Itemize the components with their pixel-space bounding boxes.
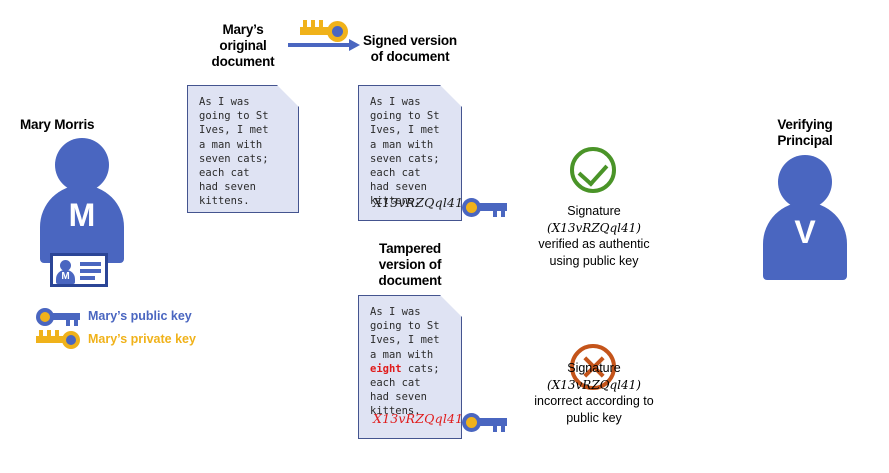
key-tooth [39,330,43,337]
original-document: As I was going to St Ives, I met a man w… [187,85,299,213]
signed-document-heading: Signed version of document [347,33,473,65]
heading-line: Mary’s [187,22,299,38]
key-tooth [303,20,307,28]
original-document-heading: Mary’s original document [187,22,299,70]
success-line-3: verified as authentic [520,236,668,253]
check-circle-icon [570,147,616,193]
key-tooth [501,425,505,432]
key-ring-hole [466,417,477,428]
key-tooth [66,320,70,326]
badge-initial: M [56,270,75,284]
key-ring-hole [66,335,76,345]
avatar-initial: V [763,215,847,249]
signed-document-public-key-icon [462,197,508,217]
public-key-icon [36,307,82,327]
tampered-document-signature: X13vRZQql41 [373,411,463,426]
key-shaft [52,313,80,320]
legend-public-key-label: Mary’s public key [88,309,192,324]
key-tooth [501,210,505,217]
key-ring-hole [466,202,477,213]
signing-arrow-line [288,43,350,47]
tampered-document: As I was going to St Ives, I met a man w… [358,295,462,439]
tampered-document-heading: Tampered version of document [355,241,465,289]
success-line-2: (X13vRZQql41) [520,220,668,237]
key-ring-hole [40,312,50,322]
key-tooth [74,320,78,326]
key-tooth [55,330,59,337]
failure-line-4: public key [515,410,673,427]
signing-private-key-icon [300,20,350,42]
tampered-text-before: As I was going to St Ives, I met a man w… [370,306,440,361]
badge-line-3 [80,276,95,280]
check-mark [578,155,609,186]
failure-line-1: Signature [515,360,673,377]
heading-line: Signed version [347,33,473,49]
signer-avatar: M [40,138,124,263]
avatar-head [55,138,109,192]
key-tooth [493,425,497,432]
key-tooth [319,20,323,28]
avatar-initial: M [40,198,124,232]
key-tooth [493,210,497,217]
private-key-icon [36,330,82,350]
tampered-word: eight [370,363,402,375]
failure-line-3: incorrect according to [515,393,673,410]
signer-name: Mary Morris [20,117,150,133]
legend-private-key-label: Mary’s private key [88,332,196,347]
heading-line: original [187,38,299,54]
failure-line-2: (X13vRZQql41) [515,377,673,394]
heading-line: of document [347,49,473,65]
id-badge-icon: M [50,253,108,287]
signed-document-text: As I was going to St Ives, I met a man w… [370,95,455,209]
verifier-name-line-2: Principal [750,133,860,149]
heading-line: Tampered [355,241,465,257]
signed-document: As I was going to St Ives, I met a man w… [358,85,462,221]
original-document-text: As I was going to St Ives, I met a man w… [199,95,292,209]
verifier-name-line-1: Verifying [750,117,860,133]
tampered-document-text: As I was going to St Ives, I met a man w… [370,305,455,419]
avatar-head [778,155,832,209]
success-line-4: using public key [520,253,668,270]
verifier-avatar: V [763,155,847,280]
key-tooth [47,330,51,337]
success-message: Signature (X13vRZQql41) verified as auth… [520,203,668,269]
signed-document-signature: X13vRZQql41 [373,195,463,210]
success-line-1: Signature [520,203,668,220]
key-tooth [311,20,315,28]
heading-line: document [355,273,465,289]
failure-message: Signature (X13vRZQql41) incorrect accord… [515,360,673,426]
badge-line-2 [80,269,101,273]
badge-line-1 [80,262,101,266]
tampered-document-public-key-icon [462,412,508,432]
heading-line: version of [355,257,465,273]
heading-line: document [187,54,299,70]
key-ring-hole [332,26,343,37]
verifier-name: Verifying Principal [750,117,860,149]
